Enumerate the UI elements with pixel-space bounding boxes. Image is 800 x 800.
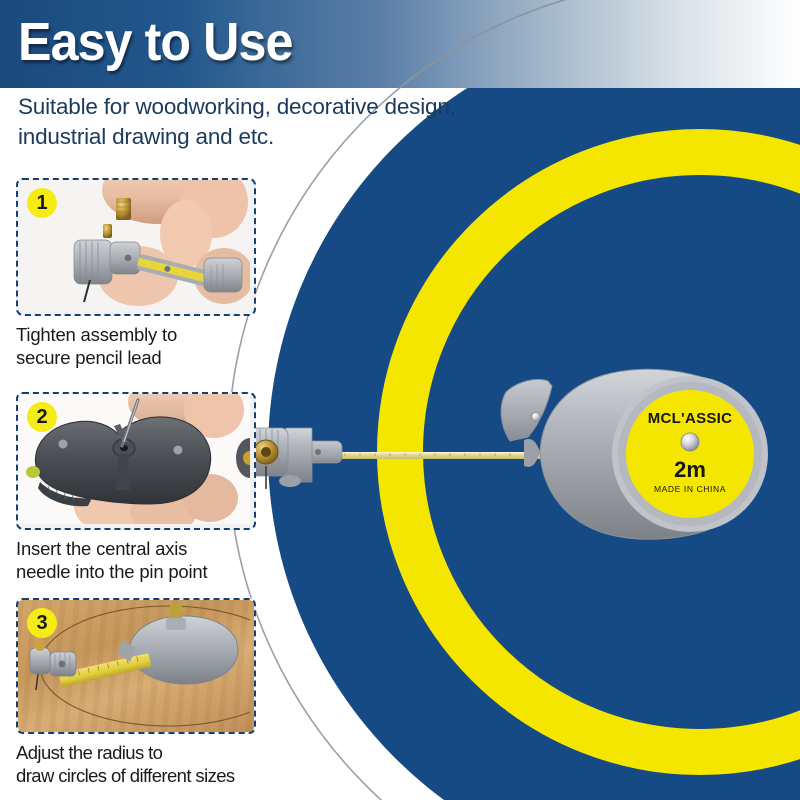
page-title: Easy to Use — [18, 6, 292, 78]
product-brand-text: MCL'ASSIC — [648, 410, 733, 427]
ring-yellow — [400, 152, 800, 752]
step-card-2: 2 — [16, 392, 252, 583]
pencil-holder-assembly — [248, 428, 342, 489]
product-dial — [626, 390, 754, 518]
tape-reel-housing — [501, 369, 768, 539]
step-3-badge: 3 — [27, 608, 57, 638]
step-2-photo: 2 — [16, 392, 256, 530]
step-2-badge: 2 — [27, 402, 57, 432]
infographic-canvas: Easy to Use Suitable for woodworking, de… — [0, 0, 800, 800]
step-2-caption-line-1: Insert the central axis — [16, 537, 252, 560]
step-1-caption-line-2: secure pencil lead — [16, 346, 252, 369]
step-3-caption-line-1: Adjust the radius to — [16, 741, 252, 764]
tape-band — [330, 452, 640, 459]
step-1-photo: 1 — [16, 178, 256, 316]
subtitle-line-1: Suitable for woodworking, decorative des… — [18, 92, 538, 122]
step-1-caption-line-1: Tighten assembly to — [16, 323, 252, 346]
product-origin-text: MADE IN CHINA — [654, 484, 726, 494]
step-3-caption-line-2: draw circles of different sizes — [16, 764, 252, 787]
step-card-1: 1 — [16, 178, 252, 369]
step-2-caption: Insert the central axis needle into the … — [16, 537, 252, 583]
step-2-caption-line-2: needle into the pin point — [16, 560, 252, 583]
step-1-caption: Tighten assembly to secure pencil lead — [16, 323, 252, 369]
product-length-text: 2m — [674, 457, 706, 482]
header-bar: Easy to Use — [0, 0, 800, 88]
step-card-3: 3 — [16, 598, 252, 787]
step-1-badge: 1 — [27, 188, 57, 218]
brass-collar — [254, 440, 278, 464]
subtitle-line-2: industrial drawing and etc. — [18, 122, 538, 152]
step-3-caption: Adjust the radius to draw circles of dif… — [16, 741, 252, 787]
step-3-photo: 3 — [16, 598, 256, 734]
subtitle: Suitable for woodworking, decorative des… — [18, 92, 538, 152]
